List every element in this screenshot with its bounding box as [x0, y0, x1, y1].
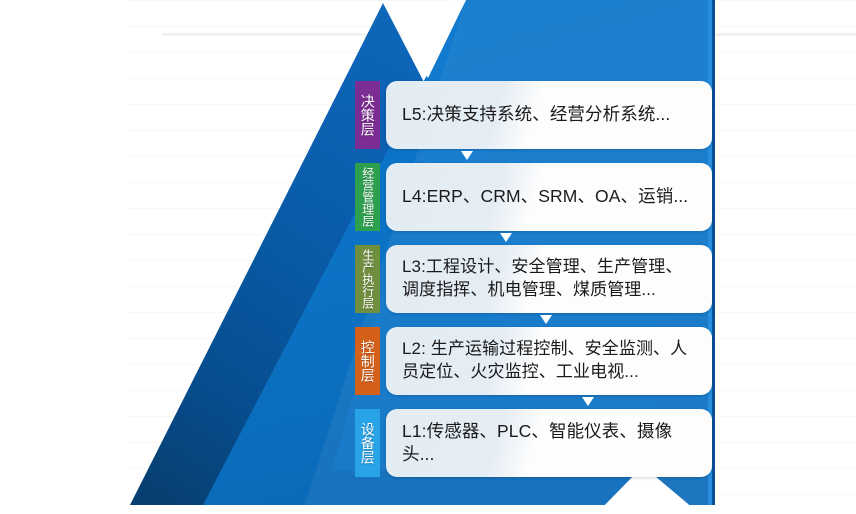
level-card-l5[interactable]: L5:决策支持系统、经营分析系统... [386, 81, 712, 149]
level-tab-l4[interactable]: 经营管理层 [355, 163, 380, 231]
level-text-l4: L4:ERP、CRM、SRM、OA、运销... [386, 185, 702, 208]
level-row-l4[interactable]: 经营管理层 L4:ERP、CRM、SRM、OA、运销... [355, 163, 712, 231]
level-card-l4[interactable]: L4:ERP、CRM、SRM、OA、运销... [386, 163, 712, 231]
level-card-l3[interactable]: L3:工程设计、安全管理、生产管理、调度指挥、机电管理、煤质管理... [386, 245, 712, 313]
level-card-l2[interactable]: L2: 生产运输过程控制、安全监测、人员定位、火灾监控、工业电视... [386, 327, 712, 395]
level-row-l3[interactable]: 生产执行层 L3:工程设计、安全管理、生产管理、调度指挥、机电管理、煤质管理..… [355, 245, 712, 313]
level-text-l1: L1:传感器、PLC、智能仪表、摄像头... [386, 420, 712, 467]
level-tab-l5[interactable]: 决策层 [355, 81, 380, 149]
level-row-l5[interactable]: 决策层 L5:决策支持系统、经营分析系统... [355, 81, 712, 149]
level-row-l1[interactable]: 设备层 L1:传感器、PLC、智能仪表、摄像头... [355, 409, 712, 477]
arrow-l4-to-l3-icon [500, 233, 512, 242]
level-text-l2: L2: 生产运输过程控制、安全监测、人员定位、火灾监控、工业电视... [386, 338, 712, 383]
arrow-l2-to-l1-icon [582, 397, 594, 406]
diagram-canvas: 决策层 L5:决策支持系统、经营分析系统... 经营管理层 L4:ERP、CRM… [0, 0, 856, 514]
arrow-l3-to-l2-icon [540, 315, 552, 324]
level-tab-l2[interactable]: 控制层 [355, 327, 380, 395]
level-tab-l3[interactable]: 生产执行层 [355, 245, 380, 313]
arrow-l5-to-l4-icon [461, 151, 473, 160]
level-rows: 决策层 L5:决策支持系统、经营分析系统... 经营管理层 L4:ERP、CRM… [0, 0, 856, 514]
level-text-l5: L5:决策支持系统、经营分析系统... [386, 103, 684, 126]
level-card-l1[interactable]: L1:传感器、PLC、智能仪表、摄像头... [386, 409, 712, 477]
level-row-l2[interactable]: 控制层 L2: 生产运输过程控制、安全监测、人员定位、火灾监控、工业电视... [355, 327, 712, 395]
level-tab-l1[interactable]: 设备层 [355, 409, 380, 477]
level-text-l3: L3:工程设计、安全管理、生产管理、调度指挥、机电管理、煤质管理... [386, 256, 712, 301]
